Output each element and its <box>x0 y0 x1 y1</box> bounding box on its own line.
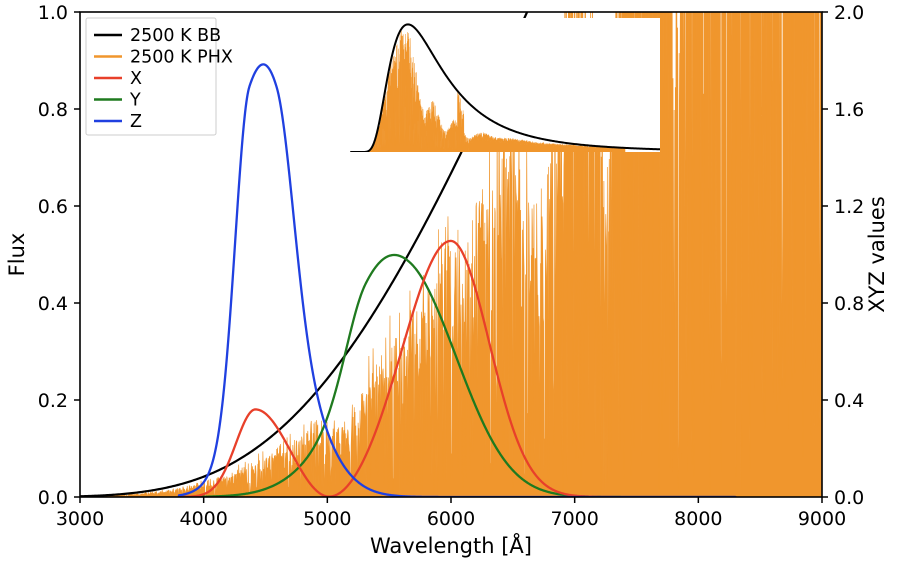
y-tick-label: 0.0 <box>38 487 68 509</box>
x-tick-label: 8000 <box>674 508 722 530</box>
y-tick-label: 0.6 <box>38 196 68 218</box>
x-tick-label: 6000 <box>427 508 475 530</box>
x-axis-label: Wavelength [Å] <box>370 532 532 558</box>
legend-label: X <box>130 69 142 89</box>
y-tick-label: 0.2 <box>38 390 68 412</box>
x-tick-label: 3000 <box>56 508 104 530</box>
y2-tick-label: 0.0 <box>834 487 864 509</box>
legend-label: 2500 K PHX <box>130 48 233 68</box>
x-tick-label: 5000 <box>303 508 351 530</box>
x-tick-label: 7000 <box>550 508 598 530</box>
x-tick-label: 9000 <box>798 508 846 530</box>
chart-svg: 3000400050006000700080009000Wavelength [… <box>0 0 905 564</box>
y2-tick-label: 0.4 <box>834 390 864 412</box>
y2-axis-label: XYZ values <box>865 196 889 313</box>
legend: 2500 K BB2500 K PHXXYZ <box>86 18 233 135</box>
figure-root: 3000400050006000700080009000Wavelength [… <box>0 0 905 564</box>
legend-label: Y <box>129 91 141 111</box>
y2-tick-label: 0.8 <box>834 293 864 315</box>
x-tick-label: 4000 <box>179 508 227 530</box>
legend-label: 2500 K BB <box>130 26 221 46</box>
y-axis-label: Flux <box>5 233 29 277</box>
y2-tick-label: 1.6 <box>834 99 864 121</box>
y-tick-label: 0.8 <box>38 99 68 121</box>
inset-axes <box>350 18 660 152</box>
legend-label: Z <box>130 112 142 132</box>
y-tick-label: 0.4 <box>38 293 68 315</box>
y2-tick-label: 2.0 <box>834 2 864 24</box>
y2-tick-label: 1.2 <box>834 196 864 218</box>
y-tick-label: 1.0 <box>38 2 68 24</box>
